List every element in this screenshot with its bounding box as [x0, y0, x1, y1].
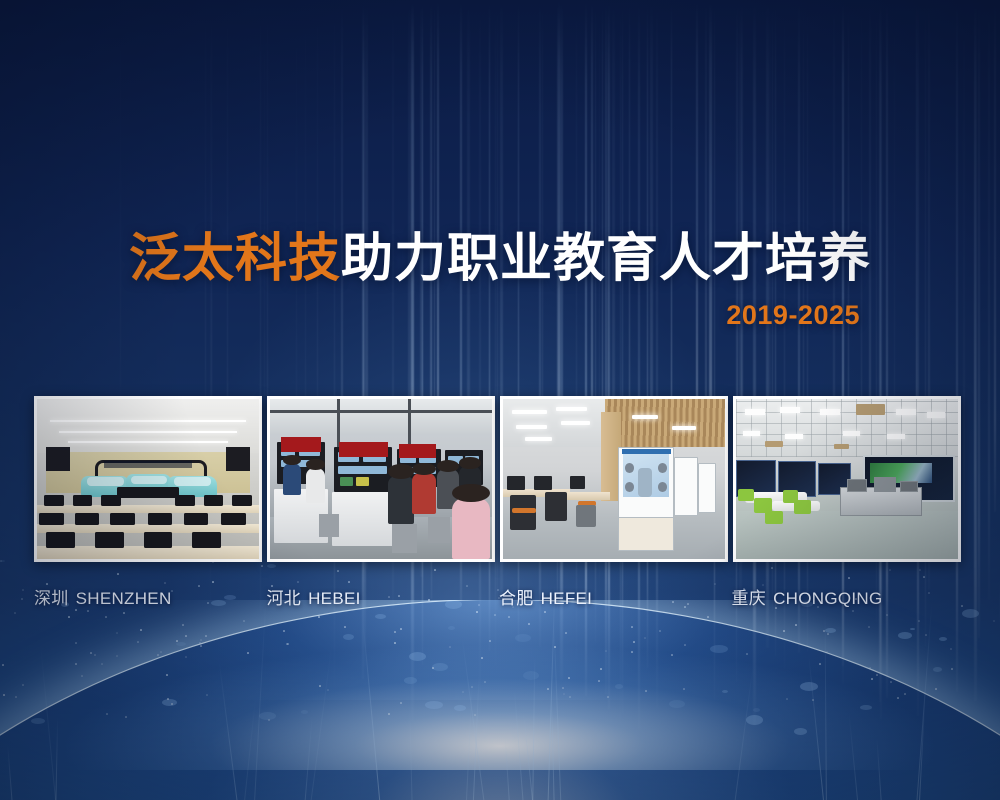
brand-name: 泛太科技 [129, 230, 341, 288]
caption-hebei: 河北HEBEI [267, 584, 500, 609]
photo-image-shenzhen [37, 399, 259, 559]
year-range-label: 2019-2025 [0, 300, 860, 331]
caption-shenzhen: 深圳SHENZHEN [34, 584, 267, 609]
caption-hebei-zh: 河北 [267, 589, 302, 608]
photo-image-chongqing [736, 399, 958, 559]
title-tagline: 助力职业教育人才培养 [341, 230, 871, 288]
gallery-photo-hebei[interactable] [267, 396, 495, 562]
photo-image-hefei [503, 399, 725, 559]
caption-hefei-en: HEFEI [541, 589, 593, 608]
photo-image-hebei [270, 399, 492, 559]
caption-shenzhen-en: SHENZHEN [76, 589, 172, 608]
caption-chongqing: 重庆CHONGQING [732, 584, 965, 609]
network-mesh-icon [0, 600, 1000, 800]
caption-chongqing-en: CHONGQING [773, 589, 882, 608]
globe-graphic [0, 600, 1000, 800]
caption-hefei-zh: 合肥 [499, 589, 534, 608]
caption-hebei-en: HEBEI [308, 589, 361, 608]
photo-captions: 深圳SHENZHEN 河北HEBEI 合肥HEFEI 重庆CHONGQING [34, 584, 964, 609]
caption-shenzhen-zh: 深圳 [34, 589, 69, 608]
caption-chongqing-zh: 重庆 [732, 589, 767, 608]
promotional-banner: 泛太科技助力职业教育人才培养 2019-2025 [0, 0, 1000, 800]
gallery-photo-hefei[interactable] [500, 396, 728, 562]
light-streaks-background [0, 0, 1000, 720]
hero-title-block: 泛太科技助力职业教育人才培养 2019-2025 [0, 228, 1000, 331]
gallery-photo-shenzhen[interactable] [34, 396, 262, 562]
caption-hefei: 合肥HEFEI [499, 584, 732, 609]
page-title: 泛太科技助力职业教育人才培养 [0, 228, 1000, 290]
gallery-photo-chongqing[interactable] [733, 396, 961, 562]
photo-gallery [34, 396, 964, 562]
